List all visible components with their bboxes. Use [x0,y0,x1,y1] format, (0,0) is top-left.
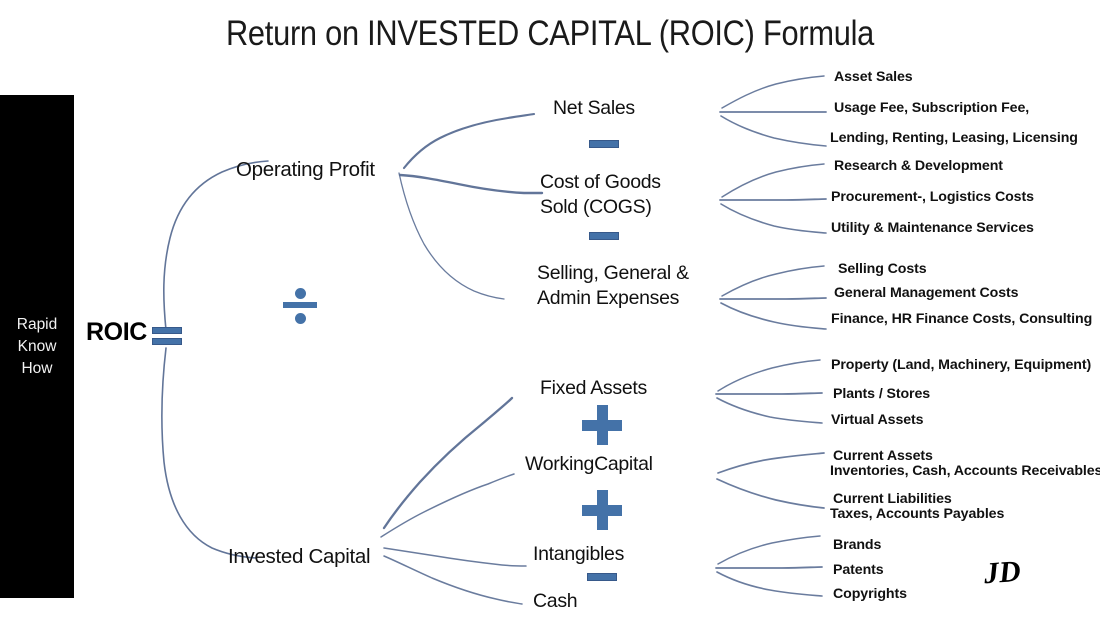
node-fixed-assets-line-1: Fixed Assets [540,376,647,401]
leaf-fixed-assets-1: Property (Land, Machinery, Equipment) [831,357,1091,374]
minus-icon-3 [587,573,617,581]
node-cogs-line-1: Cost of Goods [540,170,661,195]
divide-icon [283,288,317,324]
plus-icon-1 [582,405,622,445]
leaf-intangibles-3: Copyrights [833,586,907,603]
page-title: Return on INVESTED CAPITAL (ROIC) Formul… [66,14,1034,54]
node-net-sales: Net Sales [553,96,635,121]
leaf-net-sales-3: Lending, Renting, Leasing, Licensing [830,130,1078,147]
author-signature: JD [983,555,1022,591]
leaf-net-sales-2: Usage Fee, Subscription Fee, [834,100,1029,117]
node-fixed-assets: Fixed Assets [540,376,647,401]
leaf-sga-1: Selling Costs [838,261,927,278]
node-intangibles: Intangibles [533,542,624,567]
node-cogs-line-2: Sold (COGS) [540,195,661,220]
node-cash-line-1: Cash [533,589,577,614]
leaf-sga-3: Finance, HR Finance Costs, Consulting [831,311,1092,328]
equals-icon [152,327,182,345]
brand-panel: Rapid Know How [0,95,74,598]
node-net-sales-line-1: Net Sales [553,96,635,121]
brand-line-1: Rapid [17,314,58,336]
leaf-intangibles-2: Patents [833,562,884,579]
node-sga-line-2: Admin Expenses [537,286,689,311]
leaf-intangibles-1: Brands [833,537,881,554]
node-sga: Selling, General & Admin Expenses [537,261,689,311]
node-cogs: Cost of Goods Sold (COGS) [540,170,661,220]
node-working-capital: WorkingCapital [525,452,653,477]
brand-line-2: Know [18,336,57,358]
node-intangibles-line-1: Intangibles [533,542,624,567]
plus-icon-2 [582,490,622,530]
leaf-cogs-3: Utility & Maintenance Services [831,220,1034,237]
node-sga-line-1: Selling, General & [537,261,689,286]
roic-root-label: ROIC [86,318,147,347]
minus-icon-1 [589,140,619,148]
brand-line-3: How [21,358,52,380]
leaf-working-capital-4: Taxes, Accounts Payables [830,506,1004,523]
node-operating-profit: Operating Profit [236,158,375,182]
leaf-cogs-2: Procurement-, Logistics Costs [831,189,1034,206]
minus-icon-2 [589,232,619,240]
leaf-fixed-assets-3: Virtual Assets [831,412,923,429]
leaf-sga-2: General Management Costs [834,285,1018,302]
leaf-cogs-1: Research & Development [834,158,1003,175]
node-working-capital-line-1: WorkingCapital [525,452,653,477]
leaf-working-capital-2: Inventories, Cash, Accounts Receivables [830,463,1100,480]
node-cash: Cash [533,589,577,614]
node-invested-capital: Invested Capital [228,545,370,569]
leaf-fixed-assets-2: Plants / Stores [833,386,930,403]
leaf-net-sales-1: Asset Sales [834,69,913,86]
diagram-canvas: Return on INVESTED CAPITAL (ROIC) Formul… [0,0,1100,619]
